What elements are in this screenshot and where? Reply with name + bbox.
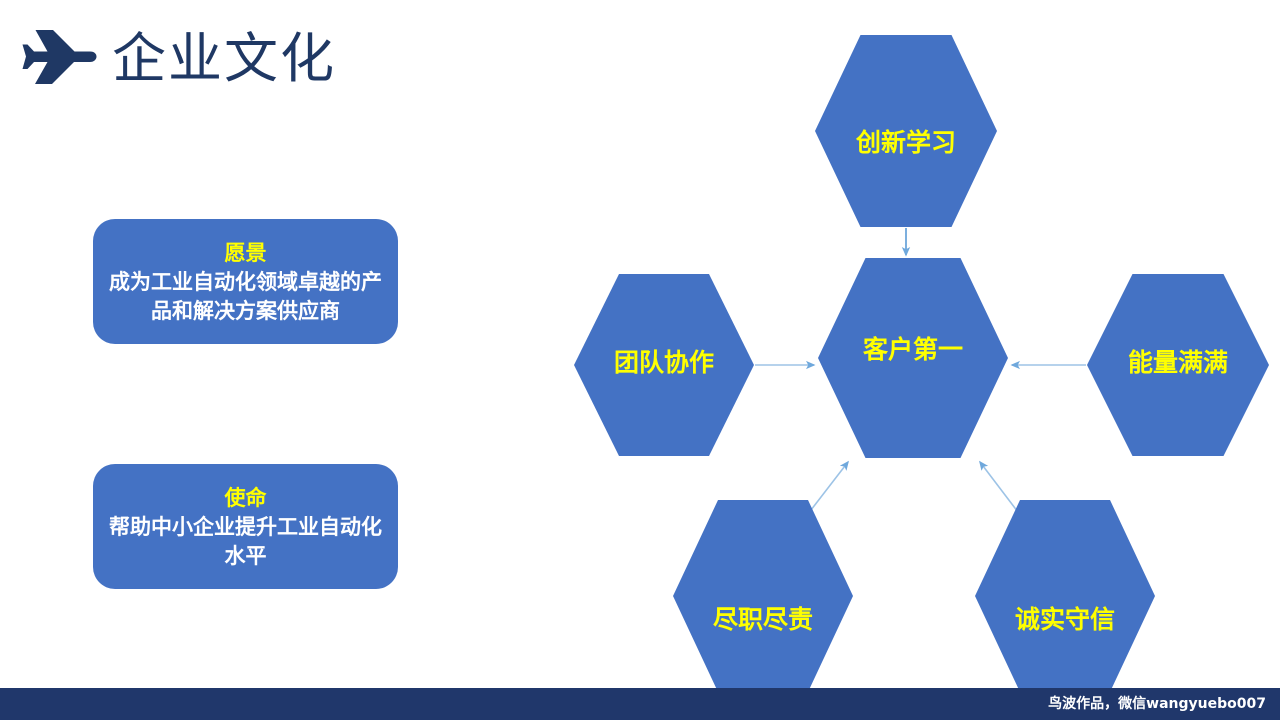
mission-card-title: 使命 [225,485,267,512]
hex-node-energy[interactable]: 能量满满 [1087,274,1269,456]
hex-node-diligence[interactable]: 尽职尽责 [673,500,853,692]
hex-node-label: 能量满满 [1128,348,1228,378]
vision-card: 愿景 成为工业自动化领域卓越的产品和解决方案供应商 [93,219,398,344]
footer-credit: 鸟波作品，微信wangyuebo007 [1048,688,1266,720]
slide-header: 企业文化 [0,0,560,120]
mission-card-body: 帮助中小企业提升工业自动化水平 [103,513,388,571]
vision-card-title: 愿景 [225,240,267,267]
hex-node-label: 尽职尽责 [713,605,813,635]
hex-node-label: 团队协作 [614,348,714,378]
hex-node-label: 诚实守信 [1015,605,1115,635]
hex-node-teamwork[interactable]: 团队协作 [574,274,754,456]
hex-node-integrity[interactable]: 诚实守信 [975,500,1155,692]
vision-card-body: 成为工业自动化领域卓越的产品和解决方案供应商 [103,268,388,326]
hex-node-label: 创新学习 [856,128,956,158]
hex-node-customer-first[interactable]: 客户第一 [818,258,1008,458]
mission-card: 使命 帮助中小企业提升工业自动化水平 [93,464,398,589]
hex-node-innovation[interactable]: 创新学习 [815,35,997,227]
culture-hex-diagram: 创新学习 团队协作 客户第一 能量满满 尽职尽责 诚实守信 [540,0,1280,690]
page-title: 企业文化 [112,26,336,92]
hex-node-label: 客户第一 [863,335,963,365]
slide-canvas: 企业文化 愿景 成为工业自动化领域卓越的产品和解决方案供应商 使命 帮助中小企业… [0,0,1280,720]
airplane-icon [22,24,98,90]
slide-footer: 鸟波作品，微信wangyuebo007 [0,688,1280,720]
